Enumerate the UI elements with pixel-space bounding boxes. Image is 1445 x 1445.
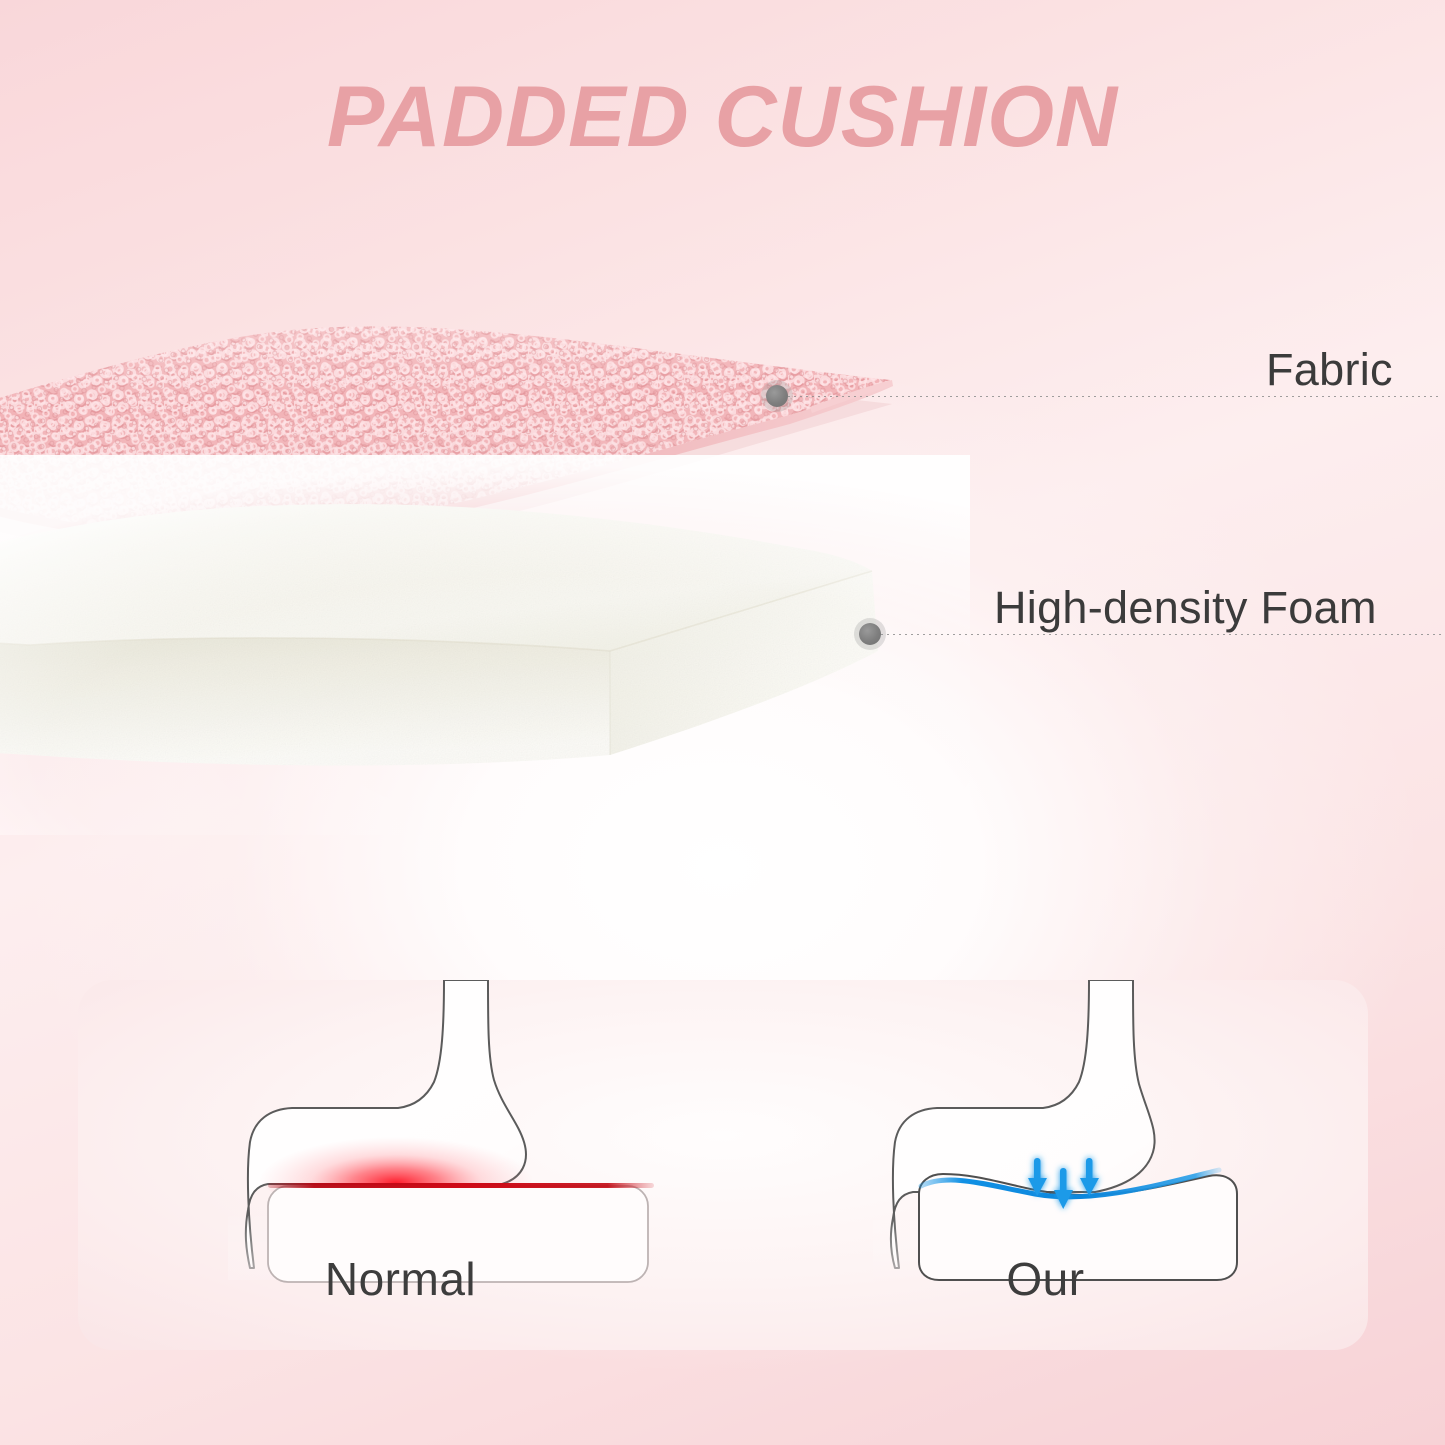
pressure-line-red — [268, 1183, 654, 1188]
callout-dot-icon — [859, 623, 881, 645]
comparison-panel: Normal — [78, 980, 1368, 1350]
foam-right-face — [610, 571, 878, 755]
callout-label-foam: High-density Foam — [994, 582, 1377, 634]
infographic-canvas: PADDED CUSHION — [0, 0, 1445, 1445]
comparison-label-our: Our — [723, 1252, 1368, 1306]
comparison-column-our: Our — [723, 980, 1368, 1350]
comparison-label-normal: Normal — [78, 1252, 723, 1306]
fabric-texture — [0, 305, 960, 565]
callout-label-fabric: Fabric — [1266, 344, 1393, 396]
callout-dot-icon — [766, 385, 788, 407]
foam-body — [0, 504, 878, 765]
callout-fabric: Fabric — [766, 376, 1438, 416]
page-title: PADDED CUSHION — [0, 74, 1445, 160]
figure-normal — [78, 980, 723, 1270]
foam-block — [0, 455, 930, 815]
fabric-edge — [0, 380, 893, 543]
callout-foam: High-density Foam — [859, 614, 1441, 654]
fabric-shadow — [0, 350, 892, 558]
foam-front-face — [0, 637, 610, 766]
comparison-column-normal: Normal — [78, 980, 723, 1350]
foam-fade — [0, 455, 970, 835]
figure-our — [723, 980, 1368, 1270]
foam-top-face — [0, 504, 872, 651]
